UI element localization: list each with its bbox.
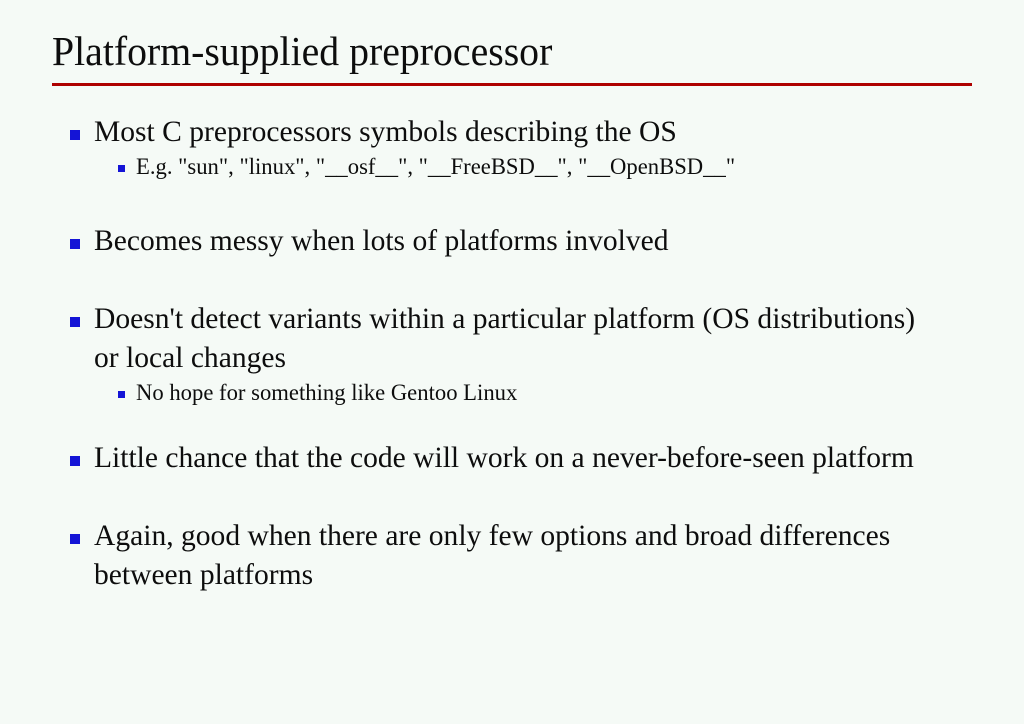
square-bullet-icon [70,534,80,544]
bullet-group-1: Most C preprocessors symbols describing … [70,112,1000,182]
spacer [70,477,1000,516]
bullet-item-level2: No hope for something like Gentoo Linux [118,377,1000,408]
bullet-text: Again, good when there are only few opti… [94,516,926,594]
square-bullet-icon [70,317,80,327]
sub-bullet-text: No hope for something like Gentoo Linux [136,377,517,408]
bullet-text: Becomes messy when lots of platforms inv… [94,221,669,260]
bullet-item-level1: Becomes messy when lots of platforms inv… [70,221,1000,260]
bullet-group-5: Again, good when there are only few opti… [70,516,1000,594]
small-square-bullet-icon [118,391,125,398]
bullet-text: Doesn't detect variants within a particu… [94,299,926,377]
bullet-item-level1: Little chance that the code will work on… [70,438,1000,477]
bullet-item-level1: Again, good when there are only few opti… [70,516,1000,594]
square-bullet-icon [70,239,80,249]
bullet-group-3: Doesn't detect variants within a particu… [70,299,1000,408]
bullet-group-4: Little chance that the code will work on… [70,438,1000,477]
small-square-bullet-icon [118,165,125,172]
bullet-item-level1: Most C preprocessors symbols describing … [70,112,1000,151]
bullet-group-2: Becomes messy when lots of platforms inv… [70,221,1000,260]
title-divider-rule [52,83,972,86]
bullet-item-level1: Doesn't detect variants within a particu… [70,299,1000,377]
bullet-text: Most C preprocessors symbols describing … [94,112,677,151]
spacer [70,260,1000,299]
spacer [70,182,1000,221]
slide-title-block: Platform-supplied preprocessor [52,26,972,76]
slide-body: Most C preprocessors symbols describing … [70,112,1000,594]
slide-canvas: Platform-supplied preprocessor Most C pr… [0,0,1024,724]
bullet-text: Little chance that the code will work on… [94,438,914,477]
bullet-item-level2: E.g. "sun", "linux", "__osf__", "__FreeB… [118,151,1000,182]
sub-bullet-text: E.g. "sun", "linux", "__osf__", "__FreeB… [136,151,735,182]
page-title: Platform-supplied preprocessor [52,26,944,76]
square-bullet-icon [70,456,80,466]
spacer [70,408,1000,438]
square-bullet-icon [70,130,80,140]
